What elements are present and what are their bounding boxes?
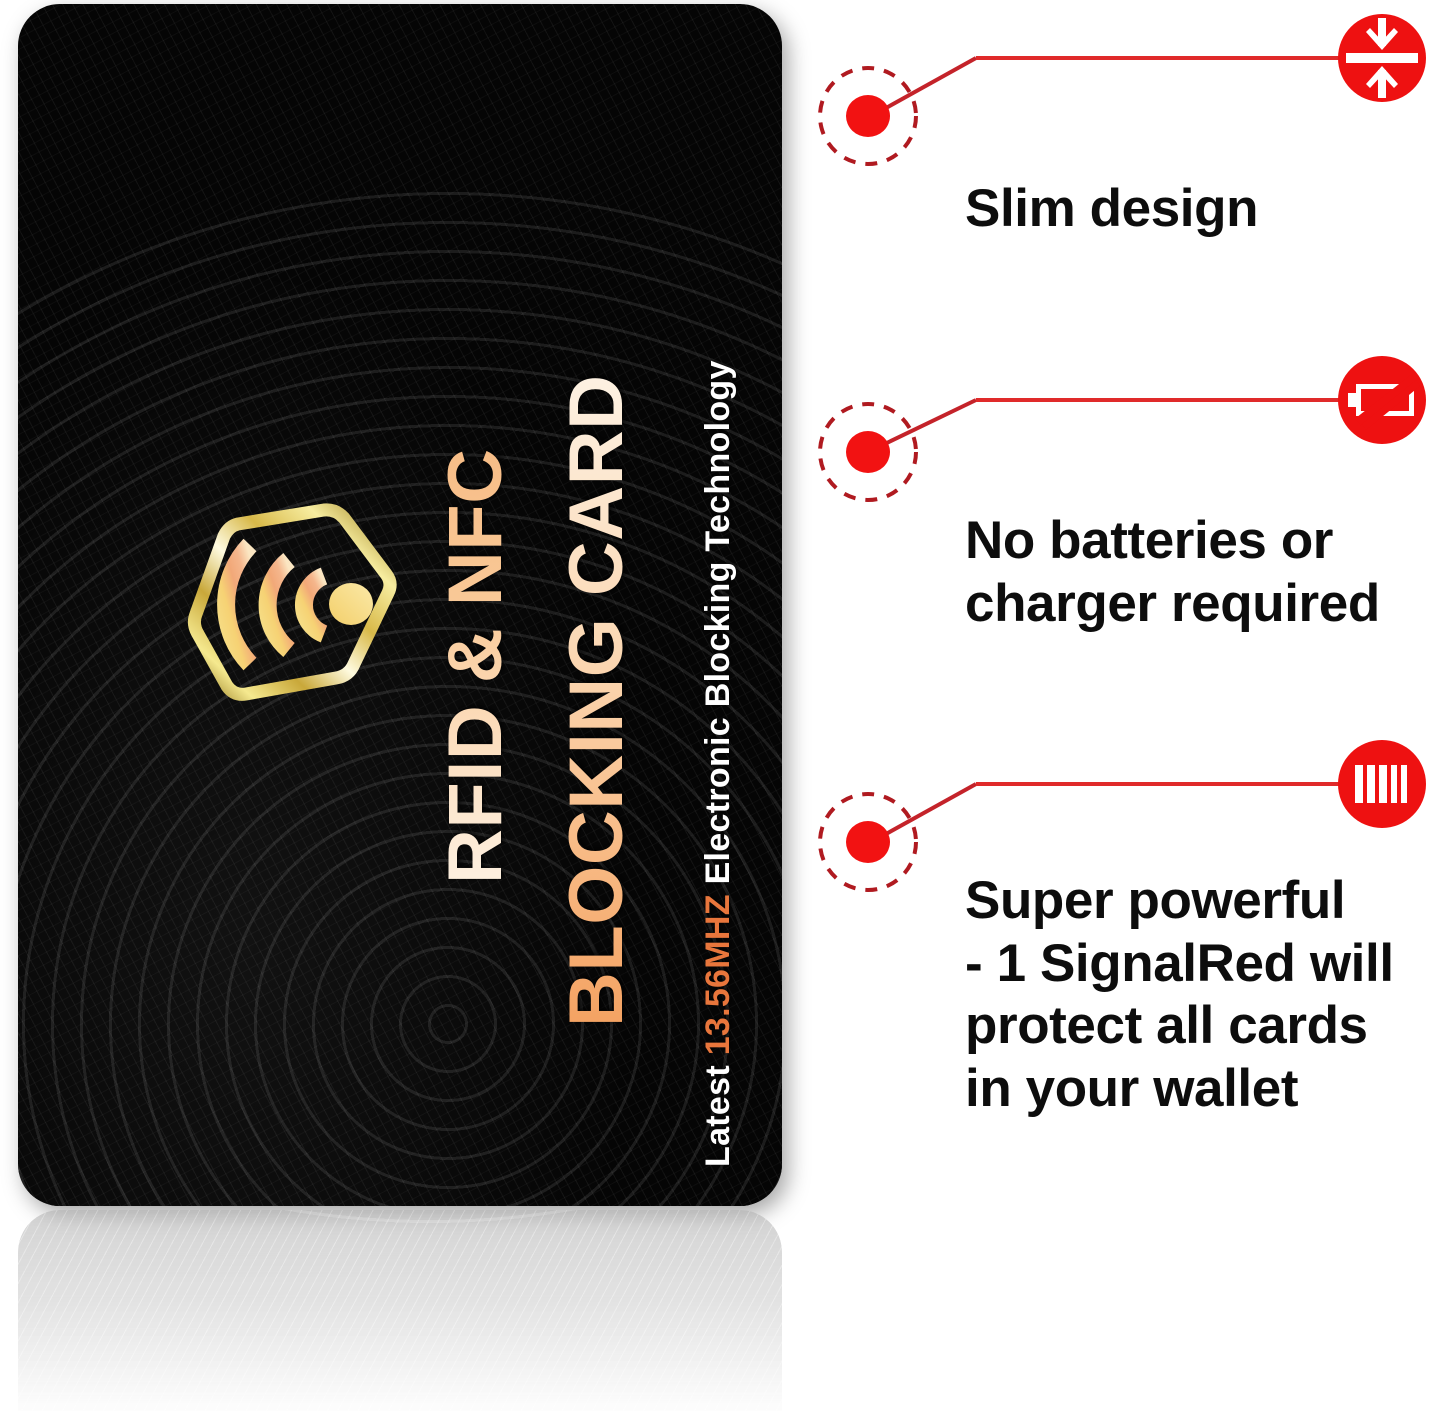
- no-battery-icon: [1334, 352, 1430, 448]
- feature-label-slim-design: Slim design: [965, 178, 1258, 241]
- feature-label-no-batteries: No batteries or charger required: [965, 510, 1380, 635]
- callout-marker-dot: [814, 62, 922, 170]
- callout-marker-dot: [814, 788, 922, 896]
- card-reflection-body: Latest 13.56MHZ Electronic Blocking Tech…: [18, 1210, 782, 1411]
- rfid-blocking-card: RFID & NFC BLOCKING CARD Latest 13.56MHZ…: [18, 4, 782, 1206]
- feature-text-line: Slim design: [965, 178, 1258, 241]
- callout-marker-dot: [814, 398, 922, 506]
- feature-text-line: No batteries or: [965, 510, 1380, 573]
- card-subtitle-suffix: Electronic Blocking Technology: [699, 360, 737, 894]
- product-card-stage: RFID & NFC BLOCKING CARD Latest 13.56MHZ…: [0, 0, 800, 1419]
- card-subtitle-prefix: Latest: [699, 1055, 737, 1167]
- card-subtitle-frequency: 13.56MHZ: [699, 894, 737, 1055]
- feature-text-line: protect all cards: [965, 995, 1394, 1058]
- logo-signal-dot: [329, 583, 373, 625]
- card-subtitle: Latest 13.56MHZ Electronic Blocking Tech…: [701, 360, 735, 1167]
- card-title-line-1: RFID & NFC: [438, 448, 514, 884]
- logo-signal-arcs: [226, 545, 324, 664]
- marker-dashed-circle-icon: [814, 788, 922, 896]
- marker-dashed-circle-icon: [814, 398, 922, 506]
- reflection-weave-texture: [18, 1210, 782, 1411]
- logo-svg: [184, 482, 404, 712]
- card-reflection: Latest 13.56MHZ Electronic Blocking Tech…: [18, 1210, 782, 1419]
- feature-label-super-powerful: Super powerful - 1 SignalRed will protec…: [965, 870, 1394, 1120]
- feature-text-line: charger required: [965, 573, 1380, 636]
- marker-dashed-circle-icon: [814, 62, 922, 170]
- barcode-icon: [1334, 736, 1430, 832]
- feature-text-line: in your wallet: [965, 1058, 1394, 1121]
- compress-thickness-icon: [1334, 10, 1430, 106]
- feature-text-line: - 1 SignalRed will: [965, 933, 1394, 996]
- barcode-icon-svg: [1334, 736, 1430, 832]
- compress-thickness-icon-svg: [1334, 10, 1430, 106]
- no-battery-icon-svg: [1334, 352, 1430, 448]
- feature-text-line: Super powerful: [965, 870, 1394, 933]
- card-title-line-2: BLOCKING CARD: [559, 375, 635, 1027]
- rfid-signal-shield-logo: [184, 482, 404, 712]
- feature-callouts: Slim design: [800, 0, 1445, 1419]
